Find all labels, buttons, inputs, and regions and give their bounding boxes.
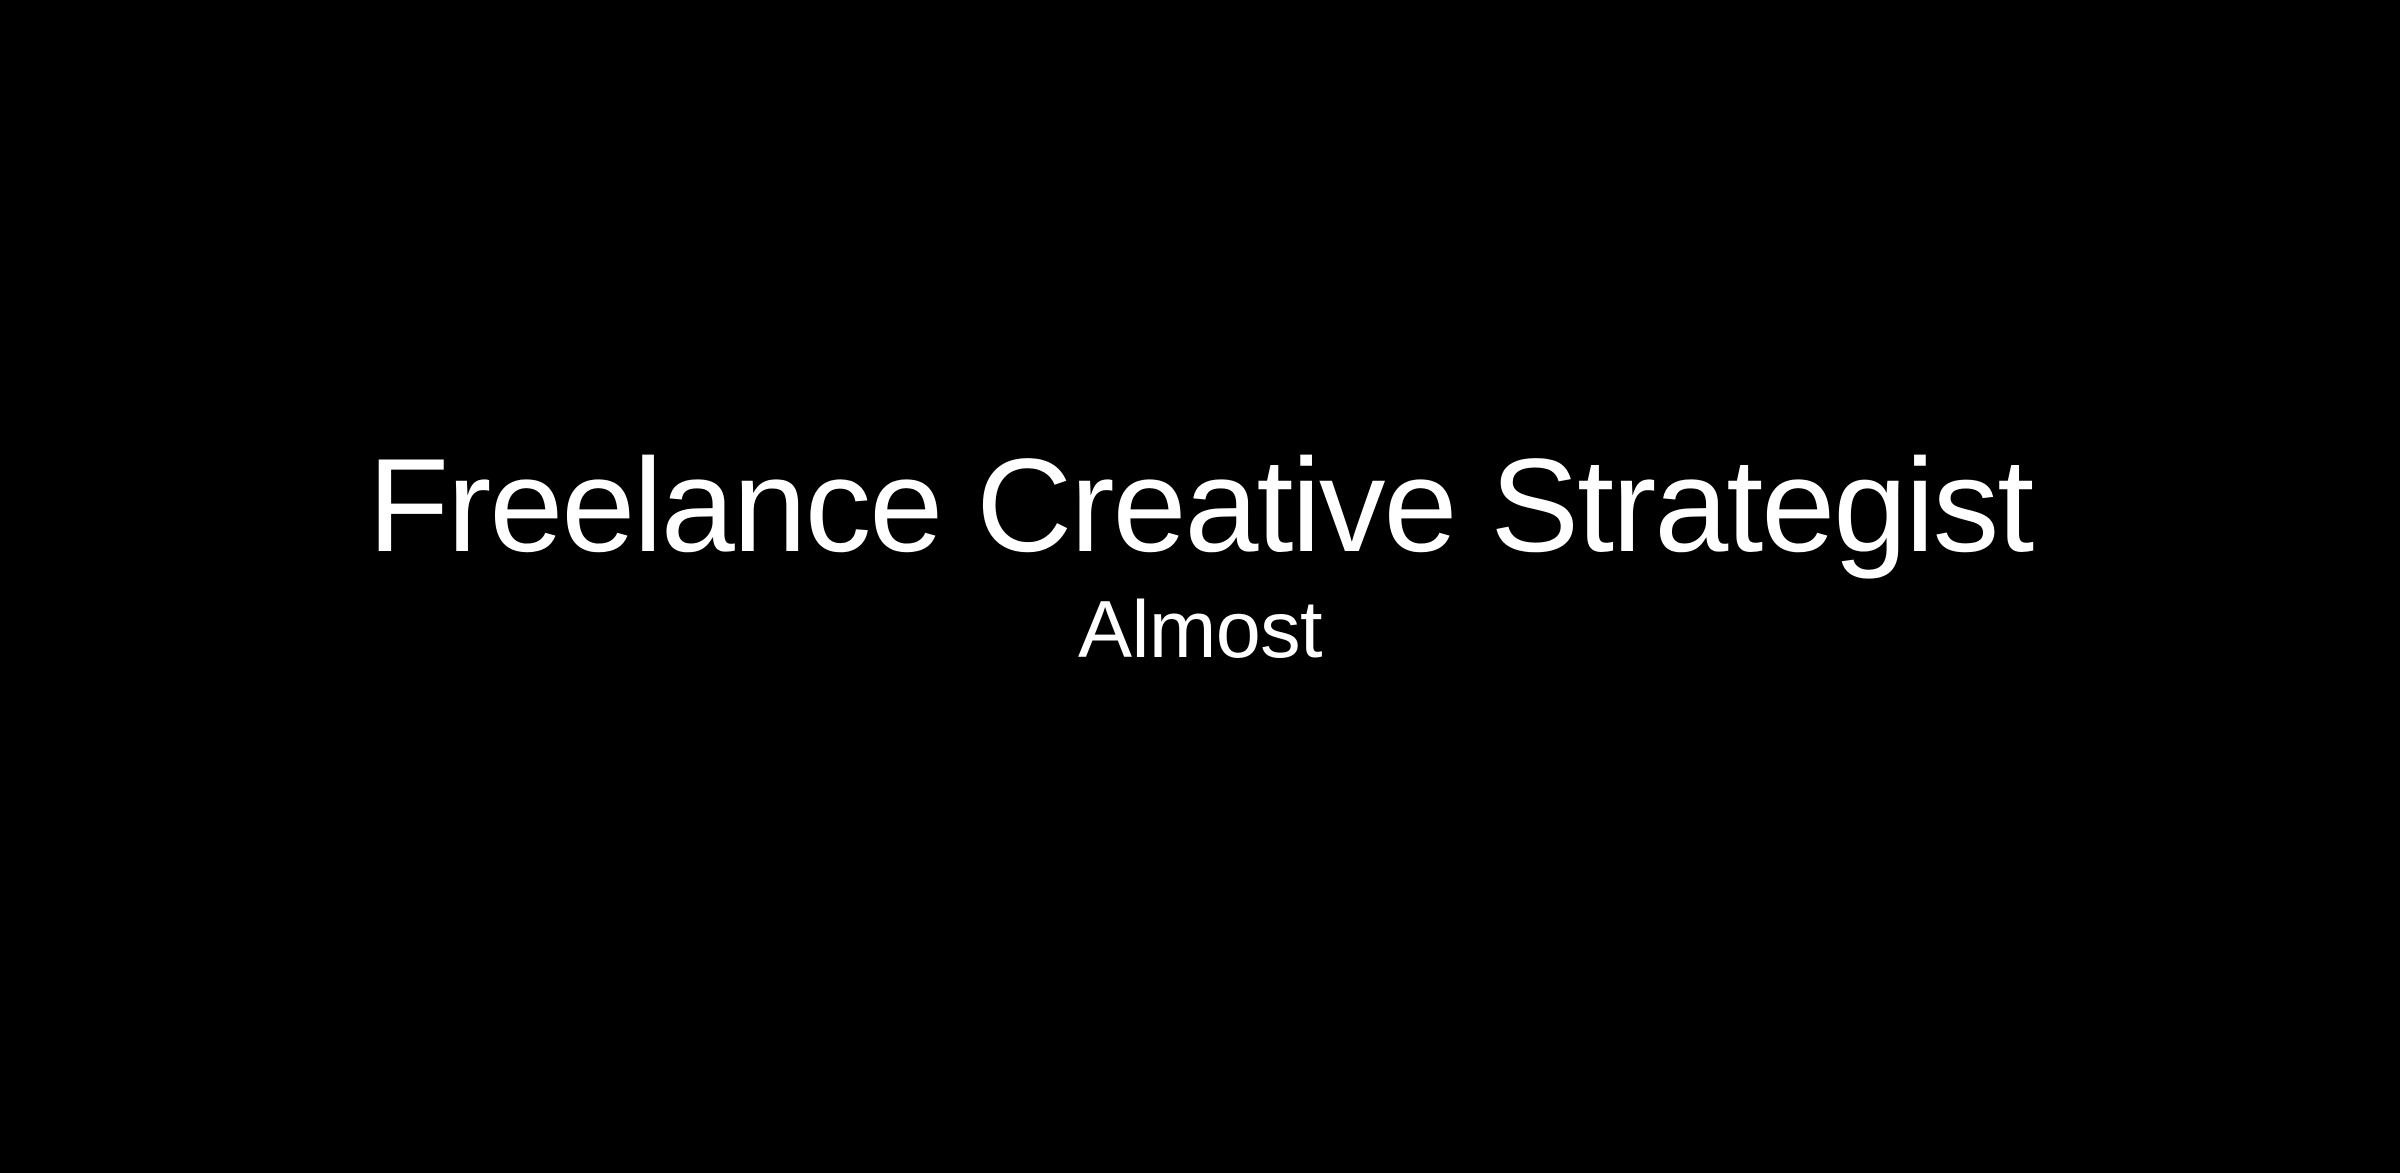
title-block: Freelance Creative Strategist Almost — [368, 436, 2032, 676]
page-subtitle: Almost — [1078, 585, 1322, 676]
hero-slide: Freelance Creative Strategist Almost — [0, 0, 2400, 1173]
page-title: Freelance Creative Strategist — [368, 436, 2032, 577]
